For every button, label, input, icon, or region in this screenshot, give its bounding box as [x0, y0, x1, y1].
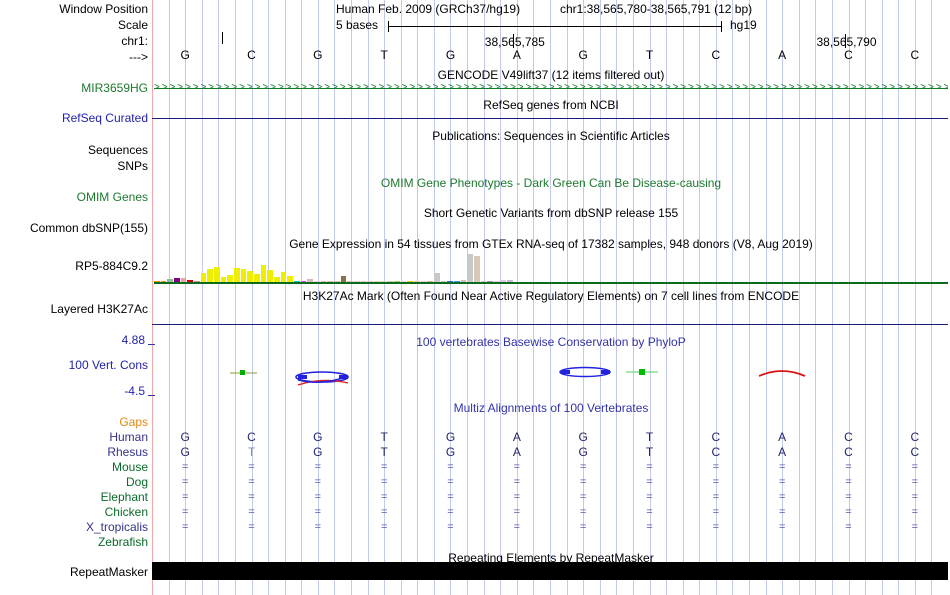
multiz-base-cell: A	[508, 445, 526, 460]
cons-track-label[interactable]: 100 Vert. Cons	[0, 358, 152, 372]
multiz-base-cell: G	[574, 445, 592, 460]
ruler-base-letter: G	[441, 48, 461, 62]
multiz-base-cell: =	[574, 475, 592, 490]
gtex-track-title: Gene Expression in 54 tissues from GTEx …	[152, 237, 950, 251]
multiz-base-cell: =	[641, 520, 659, 535]
multiz-base-cell: A	[773, 445, 791, 460]
repeatmasker-label[interactable]: RepeatMasker	[0, 565, 152, 579]
layered-h3k27ac-label[interactable]: Layered H3K27Ac	[0, 302, 152, 316]
ruler-coordinate-label: 38,565,785	[455, 35, 575, 49]
gtex-tissue-bar[interactable]	[474, 256, 480, 282]
multiz-species-label-zebrafish[interactable]: Zebrafish	[0, 535, 152, 549]
gtex-tissue-bar[interactable]	[267, 270, 273, 282]
common-dbsnp-label[interactable]: Common dbSNP(155)	[0, 221, 152, 235]
multiz-base-cell: =	[508, 490, 526, 505]
multiz-base-cell: A	[508, 430, 526, 445]
multiz-base-cell: =	[442, 475, 460, 490]
phylop-conservation-plot[interactable]	[152, 330, 950, 400]
multiz-base-cell: =	[574, 505, 592, 520]
position-range: chr1:38,565,780-38,565,791 (12 bp)	[560, 2, 752, 16]
multiz-base-cell: =	[707, 460, 725, 475]
publications-sequences-label[interactable]: Sequences	[0, 143, 152, 157]
multiz-base-cell: =	[508, 460, 526, 475]
multiz-base-cell: =	[309, 505, 327, 520]
genome-browser-canvas: Window Position Human Feb. 2009 (GRCh37/…	[0, 0, 950, 595]
omim-genes-label[interactable]: OMIM Genes	[0, 190, 152, 204]
multiz-base-cell: =	[508, 505, 526, 520]
multiz-base-cell: =	[375, 520, 393, 535]
multiz-base-cell: =	[176, 490, 194, 505]
scale-label: Scale	[0, 18, 152, 32]
scale-bar	[388, 26, 722, 27]
ruler-coordinate-label: 38,565,790	[787, 35, 907, 49]
multiz-base-cell: T	[641, 430, 659, 445]
gtex-baseline	[154, 282, 948, 284]
multiz-base-cell: T	[243, 445, 261, 460]
ruler-base-letter: A	[507, 48, 527, 62]
multiz-species-label-x_tropicalis[interactable]: X_tropicalis	[0, 520, 152, 534]
cons-axis-min: -4.5	[60, 384, 145, 398]
multiz-base-cell: =	[442, 505, 460, 520]
ruler-base-letter: C	[706, 48, 726, 62]
multiz-base-cell: =	[243, 520, 261, 535]
multiz-base-cell: =	[641, 490, 659, 505]
assembly-db-label: hg19	[730, 18, 757, 32]
gene-strand-arrows: >>>>>>>>>>>>>>>>>>>>>>>>>>>>>>>>>>>>>>>>…	[154, 83, 948, 93]
multiz-base-cell: =	[773, 505, 791, 520]
gtex-tissue-bar[interactable]	[467, 254, 473, 282]
gtex-gene-label[interactable]: RP5-884C9.2	[0, 259, 152, 273]
multiz-base-cell: T	[375, 445, 393, 460]
multiz-base-cell: =	[641, 460, 659, 475]
gtex-tissue-bar[interactable]	[207, 269, 213, 282]
ruler-base-letter: C	[839, 48, 859, 62]
ruler-base-letter: T	[374, 48, 394, 62]
multiz-base-cell: =	[641, 505, 659, 520]
gencode-track-title: GENCODE V49lift37 (12 items filtered out…	[152, 68, 950, 82]
multiz-base-cell: =	[574, 520, 592, 535]
multiz-species-label-rhesus[interactable]: Rhesus	[0, 445, 152, 459]
multiz-base-cell: =	[906, 475, 924, 490]
h3k27ac-divider	[152, 324, 948, 325]
multiz-base-cell: =	[840, 490, 858, 505]
multiz-base-cell: C	[707, 445, 725, 460]
gtex-tissue-bar[interactable]	[227, 275, 233, 283]
multiz-base-cell: =	[375, 505, 393, 520]
gtex-tissue-bar[interactable]	[254, 274, 260, 283]
multiz-base-cell: =	[243, 505, 261, 520]
ruler-minor-tick	[222, 32, 223, 44]
multiz-base-cell: G	[176, 430, 194, 445]
publications-track-title: Publications: Sequences in Scientific Ar…	[152, 129, 950, 143]
multiz-species-label-elephant[interactable]: Elephant	[0, 490, 152, 504]
assembly-title: Human Feb. 2009 (GRCh37/hg19)	[336, 2, 520, 16]
multiz-base-cell: =	[906, 520, 924, 535]
ruler-coordinate-tick	[513, 34, 514, 48]
multiz-species-label-chicken[interactable]: Chicken	[0, 505, 152, 519]
multiz-base-cell: =	[707, 475, 725, 490]
multiz-base-cell: C	[906, 445, 924, 460]
gtex-tissue-bar[interactable]	[234, 268, 240, 283]
ruler-base-letter: A	[772, 48, 792, 62]
multiz-base-cell: =	[176, 460, 194, 475]
multiz-base-cell: =	[906, 490, 924, 505]
ruler-base-letter: C	[242, 48, 262, 62]
scale-bases-text: 5 bases	[336, 18, 378, 32]
multiz-species-label-mouse[interactable]: Mouse	[0, 460, 152, 474]
multiz-base-cell: =	[641, 475, 659, 490]
multiz-base-cell: G	[442, 445, 460, 460]
multiz-base-cell: =	[309, 520, 327, 535]
window-position-label: Window Position	[0, 2, 152, 16]
chrom-label: chr1:	[0, 34, 152, 48]
multiz-base-cell: =	[309, 490, 327, 505]
gtex-tissue-bar[interactable]	[241, 269, 247, 283]
gtex-expression-barchart[interactable]	[154, 252, 514, 282]
multiz-base-cell: =	[707, 520, 725, 535]
multiz-base-cell: =	[176, 475, 194, 490]
refseq-curated-label[interactable]: RefSeq Curated	[0, 111, 152, 125]
multiz-base-cell: =	[707, 505, 725, 520]
multiz-track-title: Multiz Alignments of 100 Vertebrates	[152, 401, 950, 415]
multiz-base-cell: =	[840, 460, 858, 475]
multiz-species-label-dog[interactable]: Dog	[0, 475, 152, 489]
ruler-base-letter: G	[175, 48, 195, 62]
multiz-base-cell: G	[176, 445, 194, 460]
multiz-base-cell: =	[773, 460, 791, 475]
gtex-tissue-bar[interactable]	[281, 272, 287, 283]
multiz-base-cell: G	[574, 430, 592, 445]
gtex-tissue-bar[interactable]	[247, 271, 253, 282]
multiz-base-cell: C	[243, 430, 261, 445]
refseq-track-title: RefSeq genes from NCBI	[152, 98, 950, 112]
multiz-base-cell: =	[442, 460, 460, 475]
multiz-base-cell: =	[574, 460, 592, 475]
multiz-base-cell: C	[707, 430, 725, 445]
publications-snps-label[interactable]: SNPs	[0, 159, 152, 173]
multiz-base-cell: =	[574, 490, 592, 505]
multiz-base-cell: =	[773, 475, 791, 490]
multiz-species-label-human[interactable]: Human	[0, 430, 152, 444]
multiz-base-cell: =	[375, 460, 393, 475]
multiz-base-cell: =	[243, 475, 261, 490]
scale-tick-right	[721, 21, 722, 32]
multiz-base-cell: =	[840, 505, 858, 520]
multiz-base-cell: =	[243, 460, 261, 475]
gtex-tissue-bar[interactable]	[434, 273, 440, 283]
ruler-base-letter: G	[308, 48, 328, 62]
refseq-divider	[152, 118, 948, 119]
multiz-base-cell: =	[243, 490, 261, 505]
multiz-base-cell: =	[176, 520, 194, 535]
multiz-base-cell: T	[375, 430, 393, 445]
strand-label: --->	[0, 50, 152, 64]
multiz-base-cell: C	[840, 445, 858, 460]
multiz-base-cell: =	[906, 505, 924, 520]
ruler-base-letter: C	[905, 48, 925, 62]
multiz-base-cell: G	[442, 430, 460, 445]
gencode-gene-label[interactable]: MIR3659HG	[0, 81, 152, 95]
multiz-base-cell: =	[840, 475, 858, 490]
multiz-base-cell: T	[641, 445, 659, 460]
multiz-base-cell: C	[906, 430, 924, 445]
gtex-tissue-bar[interactable]	[214, 267, 220, 283]
multiz-base-cell: =	[375, 475, 393, 490]
h3k27ac-track-title: H3K27Ac Mark (Often Found Near Active Re…	[152, 289, 950, 303]
multiz-base-cell: =	[773, 520, 791, 535]
multiz-base-cell: =	[840, 520, 858, 535]
multiz-base-cell: =	[906, 460, 924, 475]
multiz-base-cell: =	[309, 475, 327, 490]
multiz-base-cell: C	[840, 430, 858, 445]
multiz-base-cell: =	[375, 490, 393, 505]
multiz-base-cell: A	[773, 430, 791, 445]
dbsnp-track-title: Short Genetic Variants from dbSNP releas…	[152, 206, 950, 220]
multiz-base-cell: =	[773, 490, 791, 505]
omim-track-title: OMIM Gene Phenotypes - Dark Green Can Be…	[152, 176, 950, 190]
gtex-tissue-bar[interactable]	[201, 273, 207, 283]
gtex-tissue-bar[interactable]	[261, 265, 267, 282]
multiz-base-cell: =	[508, 475, 526, 490]
scale-tick-left	[388, 21, 389, 32]
multiz-base-cell: =	[508, 520, 526, 535]
multiz-base-cell: =	[707, 490, 725, 505]
ruler-base-letter: G	[573, 48, 593, 62]
cons-axis-max: 4.88	[60, 333, 145, 347]
ruler-coordinate-tick	[845, 34, 846, 48]
ruler-base-letter: T	[640, 48, 660, 62]
multiz-base-cell: G	[309, 445, 327, 460]
multiz-base-cell: =	[176, 505, 194, 520]
repeatmasker-feature-bar[interactable]	[152, 562, 948, 580]
multiz-base-cell: =	[442, 520, 460, 535]
multiz-gaps-label[interactable]: Gaps	[0, 415, 152, 429]
multiz-base-cell: =	[309, 460, 327, 475]
multiz-base-cell: =	[442, 490, 460, 505]
multiz-base-cell: G	[309, 430, 327, 445]
